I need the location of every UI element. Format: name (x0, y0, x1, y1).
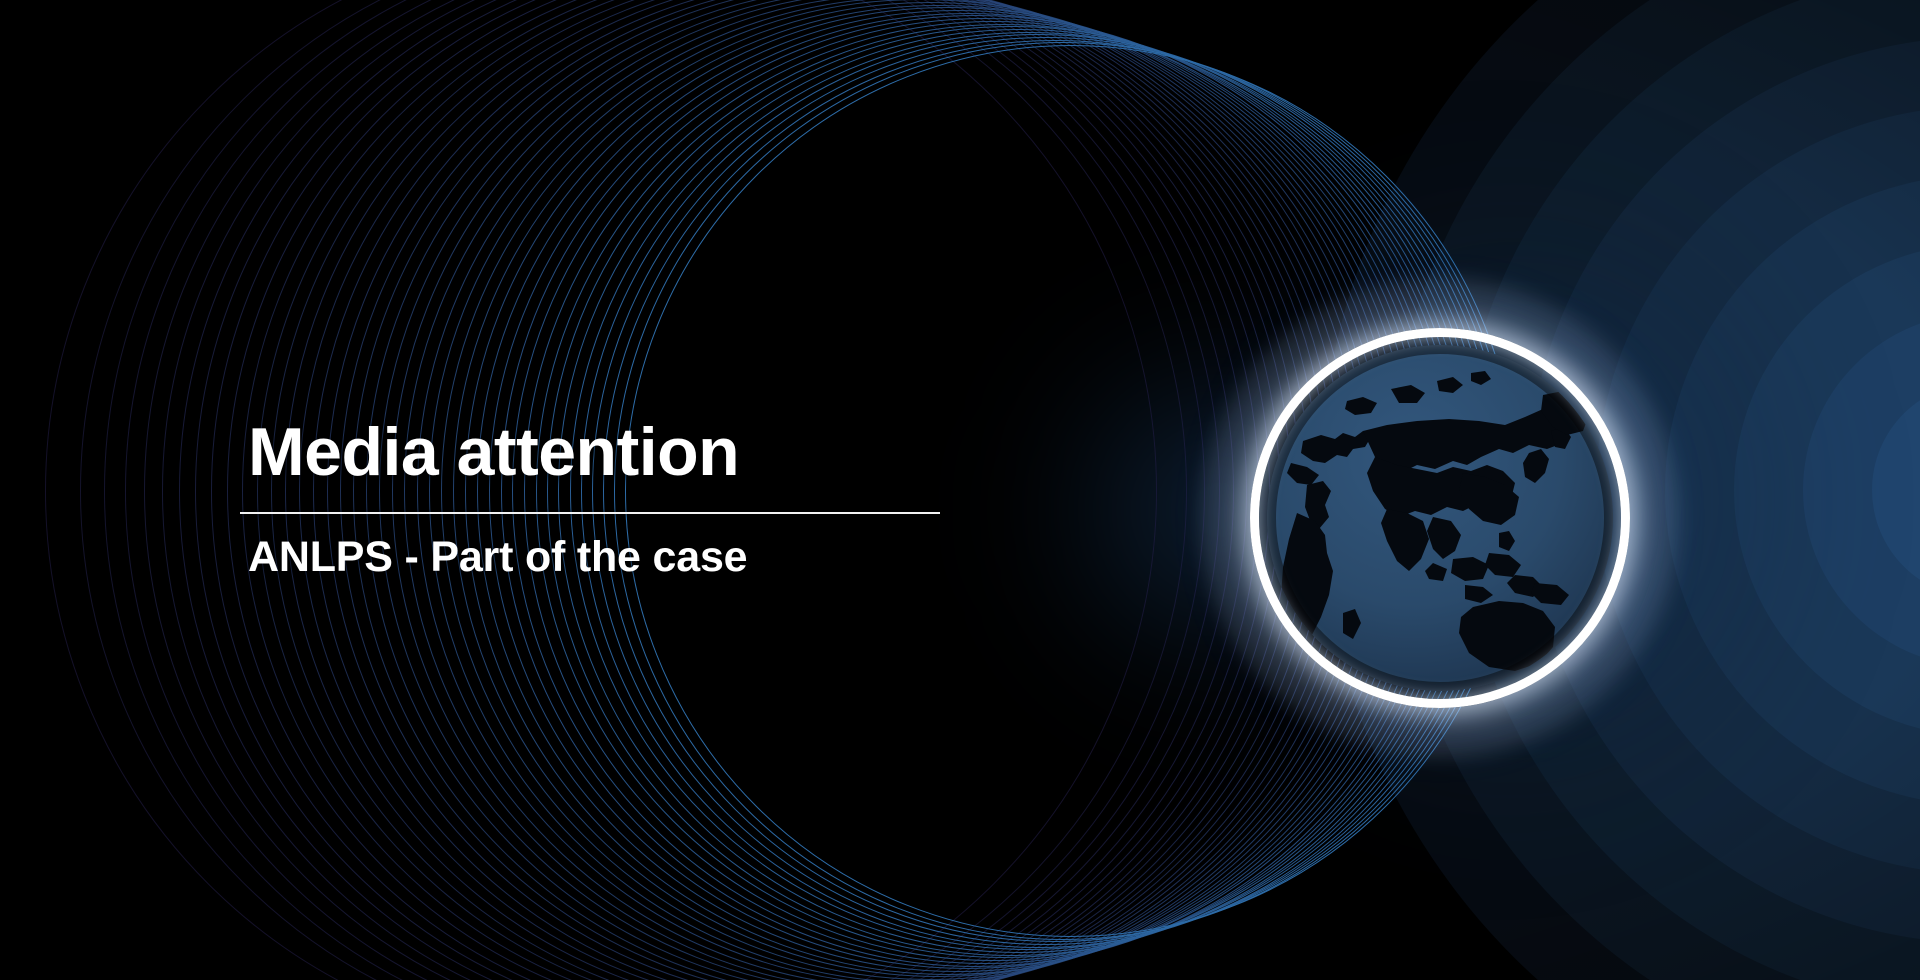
page-subtitle: ANLPS - Part of the case (248, 536, 968, 579)
earth-globe (1250, 328, 1630, 708)
concentric-ring (1665, 175, 1920, 805)
title-divider (240, 512, 940, 514)
presentation-slide: Media attention ANLPS - Part of the case (0, 0, 1920, 980)
concentric-ring (1803, 313, 1920, 667)
slide-text-block: Media attention ANLPS - Part of the case (248, 418, 968, 579)
globe-glow-ring (1250, 328, 1630, 708)
concentric-ring (1734, 244, 1920, 736)
page-title: Media attention (248, 418, 968, 486)
concentric-ring (1872, 382, 1920, 598)
